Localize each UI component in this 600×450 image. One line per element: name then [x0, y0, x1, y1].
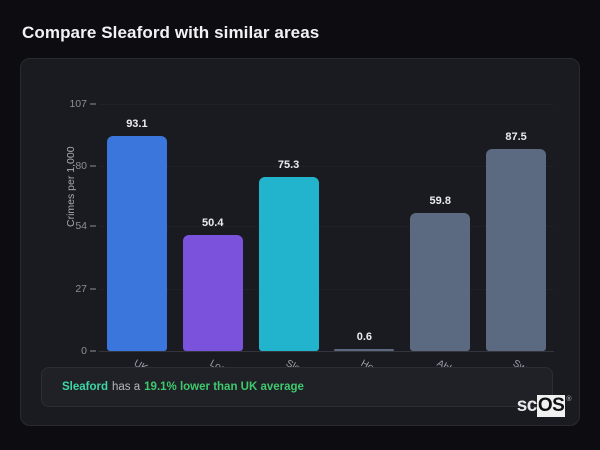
summary-area-name: Sleaford [62, 381, 108, 393]
y-tick-label: 80 [75, 160, 87, 172]
bar-group[interactable]: 75.3Sleaford [259, 104, 319, 351]
bar-group[interactable]: 50.4Local Area [183, 104, 243, 351]
bar-value-label: 87.5 [486, 131, 546, 143]
bar-group[interactable]: 87.5Swanley [486, 104, 546, 351]
page-title: Compare Sleaford with similar areas [22, 23, 319, 43]
chart-plot-area: 027548010793.1UK Average50.4Local Area75… [99, 104, 554, 351]
bar-group[interactable]: 0.6Horwich [334, 104, 394, 351]
bar[interactable] [334, 349, 394, 351]
bar-value-label: 0.6 [334, 331, 394, 343]
bar-value-label: 75.3 [259, 159, 319, 171]
bar[interactable] [183, 235, 243, 351]
bar[interactable] [259, 177, 319, 351]
summary-middle-text: has a [112, 381, 140, 393]
bar-value-label: 93.1 [107, 118, 167, 130]
y-axis-title: Crimes per 1,000 [65, 146, 77, 227]
bar-group[interactable]: 59.8Abbots Lan... [410, 104, 470, 351]
watermark-prefix: sc [517, 395, 537, 417]
bar-value-label: 50.4 [183, 217, 243, 229]
summary-note: Sleaford has a 19.1% lower than UK avera… [41, 367, 553, 407]
bar[interactable] [107, 136, 167, 351]
y-tick-label: 54 [75, 220, 87, 232]
y-tick-mark [90, 226, 96, 227]
y-tick-label: 27 [75, 283, 87, 295]
summary-comparison: 19.1% lower than UK average [144, 381, 304, 393]
watermark-registered-icon: ® [566, 396, 571, 403]
gridline [99, 351, 554, 352]
y-tick-label: 0 [81, 345, 87, 357]
chart-card: Crimes per 1,000 027548010793.1UK Averag… [20, 58, 580, 426]
bar[interactable] [410, 213, 470, 351]
y-tick-mark [90, 166, 96, 167]
watermark-highlight: OS [537, 395, 565, 417]
bar-group[interactable]: 93.1UK Average [107, 104, 167, 351]
y-tick-mark [90, 288, 96, 289]
scos-watermark: sc OS ® [517, 395, 571, 417]
y-tick-label: 107 [69, 98, 87, 110]
bar[interactable] [486, 149, 546, 351]
bar-value-label: 59.8 [410, 195, 470, 207]
y-tick-mark [90, 104, 96, 105]
y-tick-mark [90, 351, 96, 352]
